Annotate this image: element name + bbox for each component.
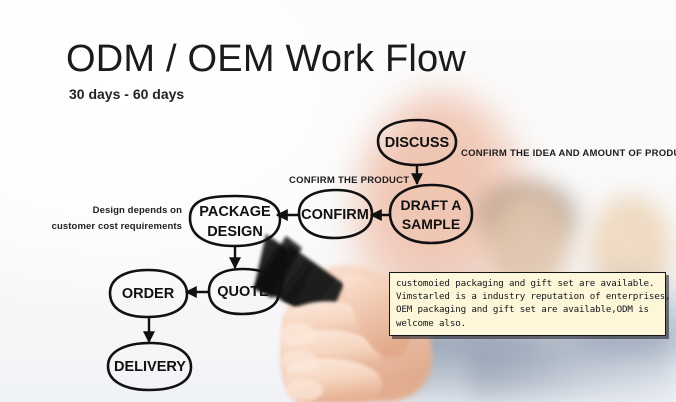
info-note-box: customoied packaging and gift set are av…	[389, 272, 666, 336]
whiteboard-workflow-image: ODM / OEM Work Flow 30 days - 60 days	[0, 0, 676, 402]
note-line-2: Vimstarled is a industry reputation of e…	[396, 291, 670, 302]
annotation-confirm-idea: CONFIRM THE IDEA AND AMOUNT OF PRODUCTS	[461, 148, 676, 159]
note-line-1: customoied packaging and gift set are av…	[396, 278, 654, 289]
node-label-package-2: DESIGN	[207, 224, 263, 240]
annotation-design-line2: cost requirements	[98, 221, 182, 232]
annotation-design-cost: Design depends on customer cost requirem…	[50, 203, 182, 235]
node-label-package-1: PACKAGE	[199, 204, 271, 220]
node-label-order: ORDER	[122, 286, 175, 302]
node-label-quote: QUOTE	[217, 284, 269, 300]
node-label-draft-2: SAMPLE	[402, 216, 460, 232]
workflow-diagram: DISCUSS DRAFT A SAMPLE CONFIRM PACKAGE D…	[0, 0, 676, 402]
node-label-discuss: DISCUSS	[385, 135, 450, 151]
node-draft-shape	[390, 185, 472, 243]
note-line-3: OEM packaging and gift set are available…	[396, 304, 649, 315]
node-label-draft-1: DRAFT A	[401, 197, 462, 213]
node-label-delivery: DELIVERY	[114, 359, 186, 375]
note-line-4: welcome also.	[396, 318, 466, 329]
node-label-confirm: CONFIRM	[301, 207, 369, 223]
annotation-confirm-product: CONFIRM THE PRODUCT	[289, 175, 409, 186]
